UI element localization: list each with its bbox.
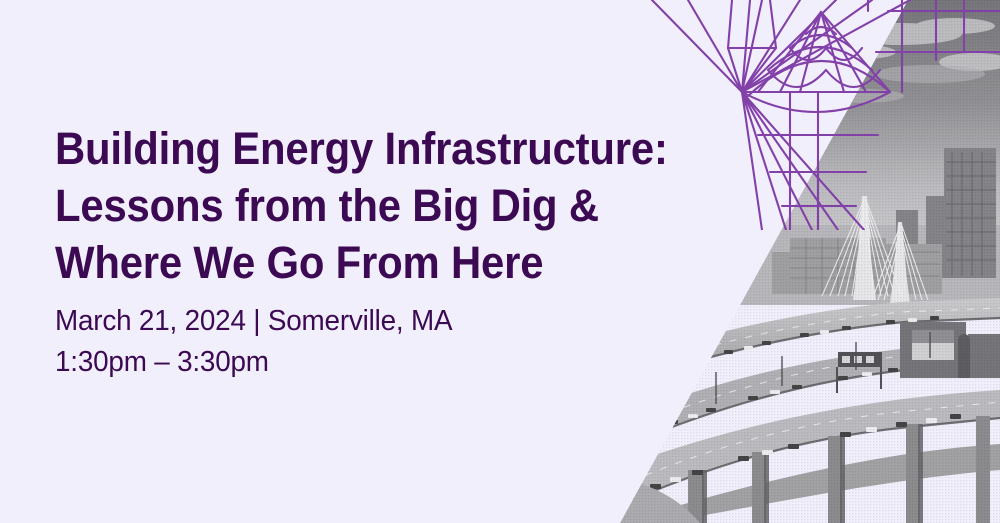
headline-line-3: Where We Go From Here xyxy=(55,234,706,291)
event-time: 1:30pm – 3:30pm xyxy=(55,342,727,383)
event-banner: Building Energy Infrastructure: Lessons … xyxy=(0,0,1000,523)
headline-line-1: Building Energy Infrastructure: xyxy=(55,120,706,177)
page-title: Building Energy Infrastructure: Lessons … xyxy=(55,120,706,291)
event-meta: March 21, 2024 | Somerville, MA 1:30pm –… xyxy=(55,291,727,383)
event-text-block: Building Energy Infrastructure: Lessons … xyxy=(55,120,755,383)
headline-line-2: Lessons from the Big Dig & xyxy=(55,177,706,234)
event-date-location: March 21, 2024 | Somerville, MA xyxy=(55,301,727,342)
